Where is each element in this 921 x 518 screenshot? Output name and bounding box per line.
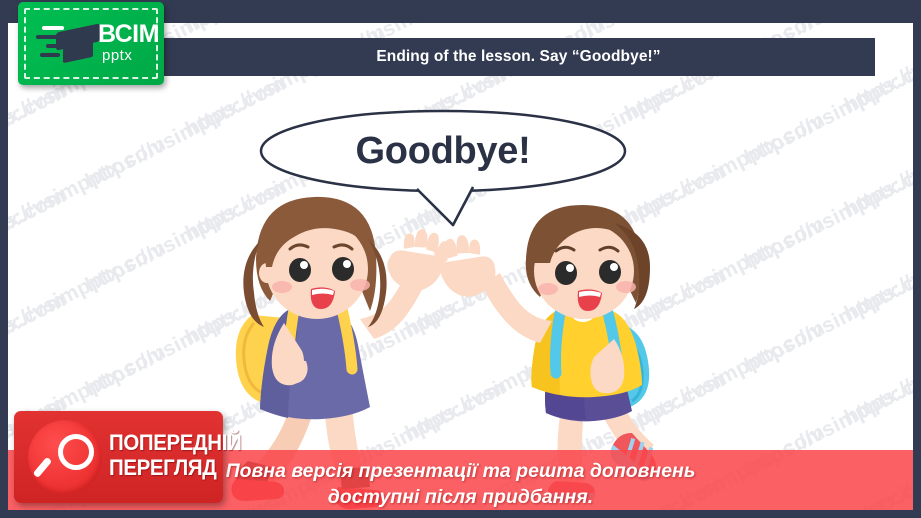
slide-title: Ending of the lesson. Say “Goodbye!” [376,48,660,66]
preview-badge-text: ПОПЕРЕДНІЙ ПЕРЕГЛЯД [109,430,213,480]
purchase-notice-line2: доступні після придбання. [328,484,593,510]
preview-badge[interactable]: ПОПЕРЕДНІЙ ПЕРЕГЛЯД [14,411,223,503]
site-logo[interactable]: ВСІМ pptx [18,2,164,85]
presentation-slide: Goodbye! https://vsimpptx.com https://vs… [0,0,921,518]
graduation-cap-icon [32,20,98,68]
preview-badge-line1: ПОПЕРЕДНІЙ [109,430,206,455]
frame-bottom [0,510,921,518]
frame-right [913,0,921,518]
speech-bubble-text: Goodbye! [257,109,629,193]
frame-left [0,0,8,518]
slide-title-bar: Ending of the lesson. Say “Goodbye!” [162,38,875,76]
magnifier-icon [28,420,102,494]
speech-bubble: Goodbye! [257,109,629,193]
preview-badge-line2: ПЕРЕГЛЯД [109,455,206,480]
purchase-notice-line1: Повна версія презентації та решта доповн… [226,458,696,484]
logo-brand-text: ВСІМ [98,20,159,49]
logo-sub-text: pptx [102,47,132,64]
